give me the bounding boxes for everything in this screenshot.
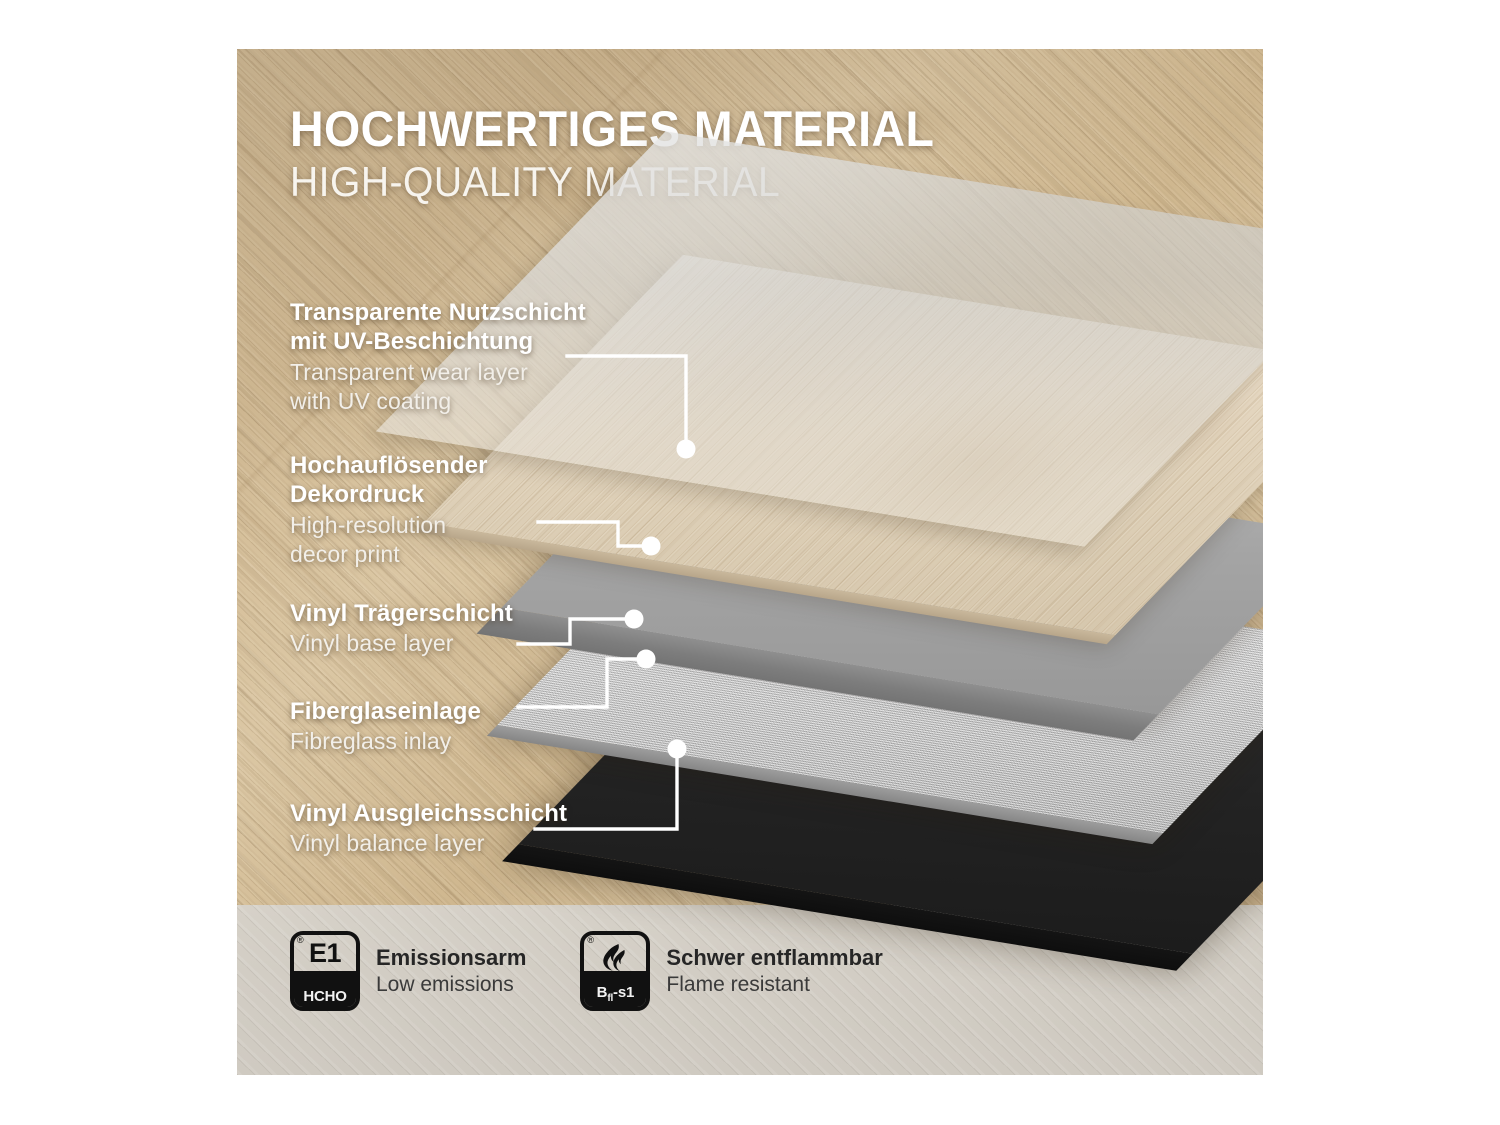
badge-title-de: Schwer entflammbar	[666, 944, 882, 972]
badge-bfl-s1: ® Bfl-s1 Schwer entflammbar Flame resis	[580, 931, 882, 1011]
registered-mark-icon: ®	[587, 936, 594, 945]
exploded-layer-stack	[237, 49, 1263, 1075]
e1-badge-label: E1	[309, 940, 341, 967]
certification-badges: ® E1 HCHO Emissionsarm Low emissions ®	[290, 931, 883, 1011]
flame-badge-icon: ® Bfl-s1	[580, 931, 650, 1011]
e1-badge-top: E1	[294, 935, 356, 971]
e1-badge-bottom: HCHO	[294, 971, 356, 1007]
badge-text-flame: Schwer entflammbar Flame resistant	[666, 944, 882, 998]
badge-text-e1: Emissionsarm Low emissions	[376, 944, 526, 998]
product-photo: HOCHWERTIGES MATERIAL HIGH-QUALITY MATER…	[237, 49, 1263, 1075]
hcho-badge-label: HCHO	[303, 989, 346, 1004]
badge-title-en: Low emissions	[376, 972, 526, 998]
infographic-canvas: HOCHWERTIGES MATERIAL HIGH-QUALITY MATER…	[0, 0, 1500, 1125]
badge-title-en: Flame resistant	[666, 972, 882, 998]
badge-e1-hcho: ® E1 HCHO Emissionsarm Low emissions	[290, 931, 526, 1011]
flame-badge-bottom: Bfl-s1	[584, 971, 646, 1007]
e1-badge-icon: ® E1 HCHO	[290, 931, 360, 1011]
bfl-s1-badge-label: Bfl-s1	[597, 985, 634, 1004]
badge-title-de: Emissionsarm	[376, 944, 526, 972]
